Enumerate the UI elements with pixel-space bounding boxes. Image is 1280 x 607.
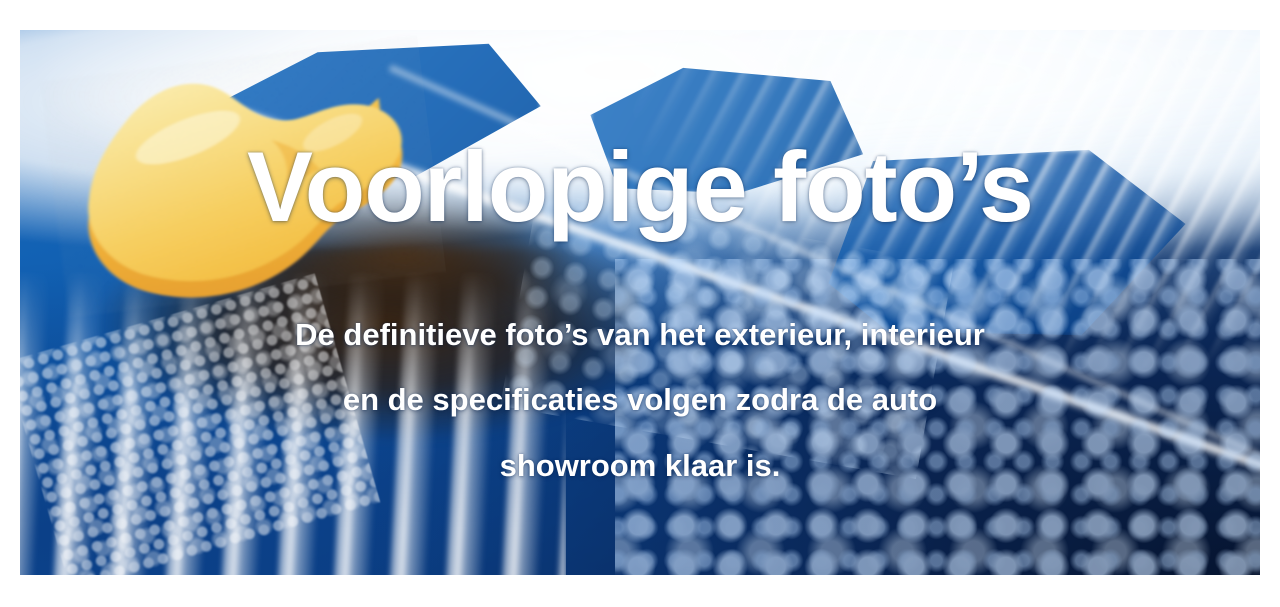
- bubble-texture-right: [615, 259, 1260, 575]
- placeholder-slide: Voorlopige foto’s De definitieve foto’s …: [0, 0, 1280, 607]
- carwash-photo: Voorlopige foto’s De definitieve foto’s …: [20, 30, 1260, 575]
- yellow-sponge: [33, 30, 451, 357]
